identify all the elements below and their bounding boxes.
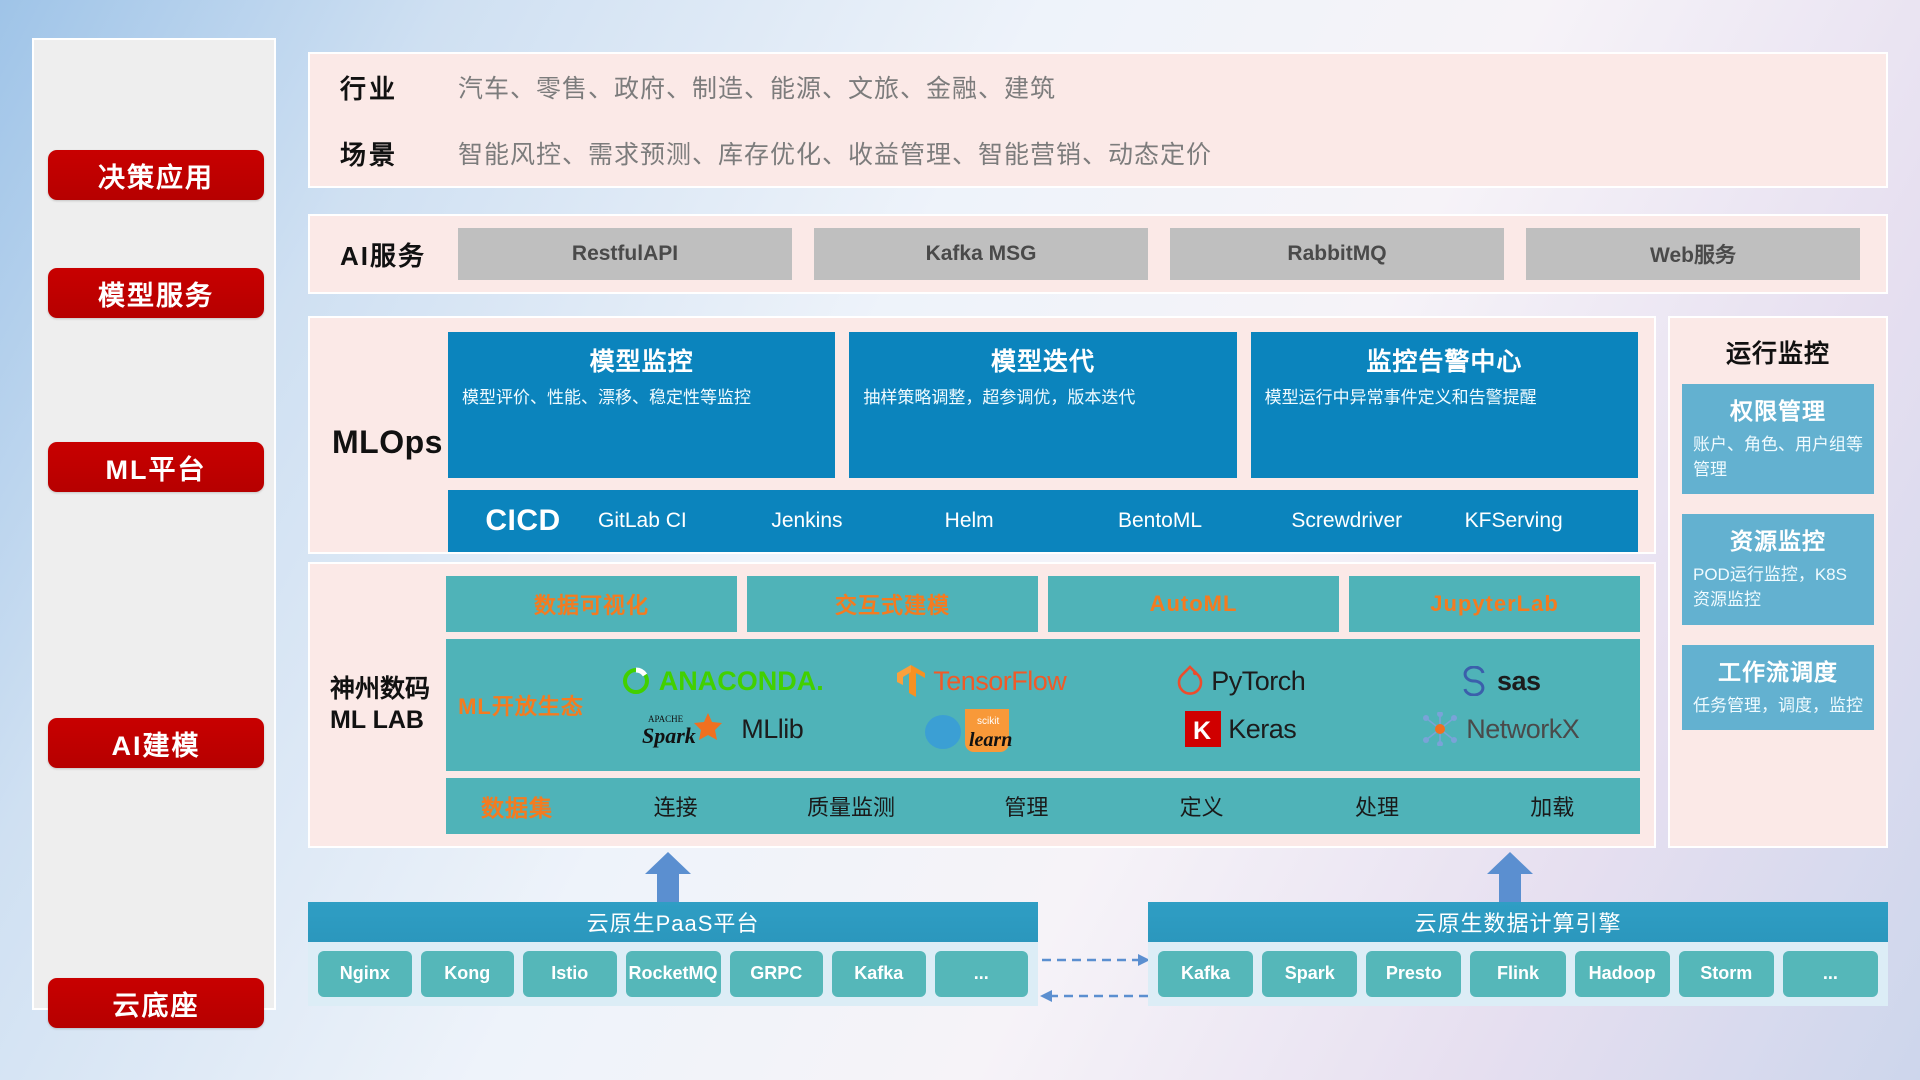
- rail-item-label: 模型服务: [98, 274, 214, 313]
- card-desc: 账户、角色、用户组等管理: [1693, 433, 1863, 482]
- ml-lab-label-line1: 神州数码: [330, 674, 446, 705]
- paas-chip-kong[interactable]: Kong: [421, 951, 515, 997]
- sas-icon: [1460, 666, 1490, 696]
- paas-chip-grpc[interactable]: GRPC: [730, 951, 824, 997]
- svg-text:Spark: Spark: [642, 723, 696, 748]
- card-title: 模型监控: [462, 342, 821, 378]
- paas-chip-list: Nginx Kong Istio RocketMQ GRPC Kafka ...: [308, 942, 1038, 1006]
- dataset-item-manage[interactable]: 管理: [939, 790, 1114, 822]
- anaconda-logo: ANACONDA.: [620, 665, 824, 697]
- keras-label: Keras: [1228, 714, 1296, 745]
- scenario-label: 场景: [340, 135, 458, 172]
- cicd-title: CICD: [448, 504, 598, 538]
- tensorflow-label: TensorFlow: [933, 666, 1066, 697]
- sas-logo: sas: [1460, 666, 1541, 697]
- cicd-item-list: GitLab CI Jenkins Helm BentoML Screwdriv…: [598, 509, 1638, 533]
- cicd-item-kfserving[interactable]: KFServing: [1465, 509, 1638, 533]
- sas-label: sas: [1497, 666, 1541, 697]
- compute-engine-up-arrow-icon: [1487, 852, 1533, 906]
- ai-service-chip-list: RestfulAPI Kafka MSG RabbitMQ Web服务: [458, 228, 1860, 280]
- dataset-item-load[interactable]: 加载: [1465, 790, 1640, 822]
- dataset-item-quality[interactable]: 质量监测: [763, 790, 938, 822]
- ml-ecosystem-panel: ML开放生态 ANACONDA.: [446, 639, 1640, 771]
- ml-ecosystem-logo-grid: ANACONDA. TensorFlow: [592, 658, 1630, 752]
- data-compute-engine-title: 云原生数据计算引擎: [1148, 902, 1888, 942]
- bidirectional-dashed-link-icon: [1040, 948, 1150, 1008]
- paas-up-arrow-icon: [645, 852, 691, 906]
- card-title: 工作流调度: [1693, 653, 1863, 687]
- paas-chip-more[interactable]: ...: [935, 951, 1029, 997]
- runtime-monitor-title: 运行监控: [1682, 334, 1874, 370]
- rail-item-cloud-base[interactable]: 云底座: [48, 978, 264, 1028]
- mlops-card-model-monitoring[interactable]: 模型监控 模型评价、性能、漂移、稳定性等监控: [448, 332, 835, 478]
- svg-text:learn: learn: [969, 729, 1012, 751]
- card-desc: POD运行监控，K8S资源监控: [1693, 563, 1863, 612]
- industry-values: 汽车、零售、政府、制造、能源、文旅、金融、建筑: [458, 69, 1056, 105]
- tab-jupyterlab[interactable]: JupyterLab: [1349, 576, 1640, 632]
- keras-logo: K Keras: [1185, 711, 1296, 747]
- rail-item-label: 决策应用: [98, 156, 214, 195]
- card-title: 权限管理: [1693, 392, 1863, 426]
- mlops-card-list: 模型监控 模型评价、性能、漂移、稳定性等监控 模型迭代 抽样策略调整，超参调优，…: [448, 332, 1638, 478]
- ml-ecosystem-label: ML开放生态: [450, 689, 592, 721]
- cicd-item-jenkins[interactable]: Jenkins: [771, 509, 944, 533]
- card-desc: 模型评价、性能、漂移、稳定性等监控: [462, 386, 821, 410]
- dataset-item-process[interactable]: 处理: [1289, 790, 1464, 822]
- dataset-bar: 数据集 连接 质量监测 管理 定义 处理 加载: [446, 778, 1640, 834]
- paas-platform-title: 云原生PaaS平台: [308, 902, 1038, 942]
- mlops-band: MLOps 模型监控 模型评价、性能、漂移、稳定性等监控 模型迭代 抽样策略调整…: [308, 316, 1656, 554]
- spark-mllib-logo: APACHE Spark MLlib: [640, 709, 803, 749]
- networkx-logo: NetworkX: [1421, 712, 1579, 746]
- ai-chip-rabbitmq[interactable]: RabbitMQ: [1170, 228, 1504, 280]
- mlops-card-alert-center[interactable]: 监控告警中心 模型运行中异常事件定义和告警提醒: [1251, 332, 1638, 478]
- tab-automl[interactable]: AutoML: [1048, 576, 1339, 632]
- ai-service-label: AI服务: [340, 236, 458, 273]
- monitor-card-permission[interactable]: 权限管理 账户、角色、用户组等管理: [1682, 384, 1874, 494]
- card-title: 模型迭代: [863, 342, 1222, 378]
- paas-chip-istio[interactable]: Istio: [523, 951, 617, 997]
- compute-chip-spark[interactable]: Spark: [1262, 951, 1357, 997]
- industry-scenario-band: 行业 汽车、零售、政府、制造、能源、文旅、金融、建筑 场景 智能风控、需求预测、…: [308, 52, 1888, 188]
- tensorflow-logo: TensorFlow: [896, 664, 1066, 698]
- data-compute-engine: 云原生数据计算引擎 Kafka Spark Presto Flink Hadoo…: [1148, 902, 1888, 1006]
- layer-rail: 决策应用 模型服务 ML平台 AI建模 云底座: [32, 38, 276, 1010]
- ai-service-band: AI服务 RestfulAPI Kafka MSG RabbitMQ Web服务: [308, 214, 1888, 294]
- rail-item-ai-modeling[interactable]: AI建模: [48, 718, 264, 768]
- rail-item-model-service[interactable]: 模型服务: [48, 268, 264, 318]
- paas-chip-rocketmq[interactable]: RocketMQ: [626, 951, 721, 997]
- compute-chip-kafka[interactable]: Kafka: [1158, 951, 1253, 997]
- keras-icon: K: [1185, 711, 1221, 747]
- compute-chip-presto[interactable]: Presto: [1366, 951, 1461, 997]
- networkx-label: NetworkX: [1466, 714, 1579, 745]
- mllib-label: MLlib: [741, 714, 803, 745]
- paas-platform: 云原生PaaS平台 Nginx Kong Istio RocketMQ GRPC…: [308, 902, 1038, 1006]
- rail-item-ml-platform[interactable]: ML平台: [48, 442, 264, 492]
- industry-row: 行业 汽车、零售、政府、制造、能源、文旅、金融、建筑: [310, 54, 1886, 120]
- dataset-item-define[interactable]: 定义: [1114, 790, 1289, 822]
- svg-text:scikit: scikit: [977, 716, 999, 727]
- ml-lab-label: 神州数码 ML LAB: [324, 576, 446, 834]
- card-title: 监控告警中心: [1265, 342, 1624, 378]
- monitor-card-resource[interactable]: 资源监控 POD运行监控，K8S资源监控: [1682, 514, 1874, 624]
- rail-item-decision-app[interactable]: 决策应用: [48, 150, 264, 200]
- ai-chip-restfulapi[interactable]: RestfulAPI: [458, 228, 792, 280]
- ml-lab-tab-list: 数据可视化 交互式建模 AutoML JupyterLab: [446, 576, 1640, 632]
- card-desc: 模型运行中异常事件定义和告警提醒: [1265, 386, 1624, 410]
- industry-label: 行业: [340, 69, 458, 106]
- rail-item-label: AI建模: [112, 724, 201, 763]
- tensorflow-icon: [896, 664, 926, 698]
- monitor-card-workflow[interactable]: 工作流调度 任务管理，调度，监控: [1682, 645, 1874, 731]
- anaconda-label: ANACONDA.: [659, 666, 824, 697]
- card-title: 资源监控: [1693, 522, 1863, 556]
- pytorch-label: PyTorch: [1211, 666, 1305, 697]
- cicd-item-gitlab-ci[interactable]: GitLab CI: [598, 509, 771, 533]
- compute-chip-hadoop[interactable]: Hadoop: [1575, 951, 1670, 997]
- card-desc: 任务管理，调度，监控: [1693, 694, 1863, 719]
- rail-item-label: 云底座: [113, 984, 200, 1023]
- mlops-card-model-iteration[interactable]: 模型迭代 抽样策略调整，超参调优，版本迭代: [849, 332, 1236, 478]
- cicd-bar: CICD GitLab CI Jenkins Helm BentoML Scre…: [448, 490, 1638, 552]
- compute-chip-flink[interactable]: Flink: [1470, 951, 1565, 997]
- dataset-item-list: 连接 质量监测 管理 定义 处理 加载: [588, 790, 1640, 822]
- compute-chip-more[interactable]: ...: [1783, 951, 1878, 997]
- cicd-item-bentoml[interactable]: BentoML: [1118, 509, 1291, 533]
- pytorch-logo: PyTorch: [1176, 665, 1305, 697]
- tab-data-visualization[interactable]: 数据可视化: [446, 576, 737, 632]
- rail-item-label: ML平台: [106, 448, 207, 487]
- architecture-diagram: 决策应用 模型服务 ML平台 AI建模 云底座 行业 汽车、零售、政府、制造、能…: [0, 0, 1920, 1080]
- compute-chip-list: Kafka Spark Presto Flink Hadoop Storm ..…: [1148, 942, 1888, 1006]
- ml-lab-label-line2: ML LAB: [330, 705, 446, 736]
- svg-text:K: K: [1193, 717, 1211, 745]
- tab-interactive-modeling[interactable]: 交互式建模: [747, 576, 1038, 632]
- compute-chip-storm[interactable]: Storm: [1679, 951, 1774, 997]
- networkx-icon: [1421, 712, 1459, 746]
- mlops-label: MLOps: [326, 332, 448, 552]
- scikit-learn-icon: scikit learn: [921, 706, 1041, 752]
- anaconda-icon: [620, 665, 652, 697]
- scenario-values: 智能风控、需求预测、库存优化、收益管理、智能营销、动态定价: [458, 135, 1212, 171]
- scikit-learn-logo: scikit learn: [921, 706, 1041, 752]
- ai-chip-kafka-msg[interactable]: Kafka MSG: [814, 228, 1148, 280]
- card-desc: 抽样策略调整，超参调优，版本迭代: [863, 386, 1222, 410]
- runtime-monitor-panel: 运行监控 权限管理 账户、角色、用户组等管理 资源监控 POD运行监控，K8S资…: [1668, 316, 1888, 848]
- ml-lab-band: 神州数码 ML LAB 数据可视化 交互式建模 AutoML JupyterLa…: [308, 562, 1656, 848]
- paas-chip-kafka[interactable]: Kafka: [832, 951, 926, 997]
- spark-icon: APACHE Spark: [640, 709, 734, 749]
- ai-chip-web-service[interactable]: Web服务: [1526, 228, 1860, 280]
- dataset-item-connect[interactable]: 连接: [588, 790, 763, 822]
- scenario-row: 场景 智能风控、需求预测、库存优化、收益管理、智能营销、动态定价: [310, 120, 1886, 186]
- cicd-item-screwdriver[interactable]: Screwdriver: [1291, 509, 1464, 533]
- pytorch-icon: [1176, 665, 1204, 697]
- cicd-item-helm[interactable]: Helm: [945, 509, 1118, 533]
- paas-chip-nginx[interactable]: Nginx: [318, 951, 412, 997]
- dataset-title: 数据集: [446, 789, 588, 823]
